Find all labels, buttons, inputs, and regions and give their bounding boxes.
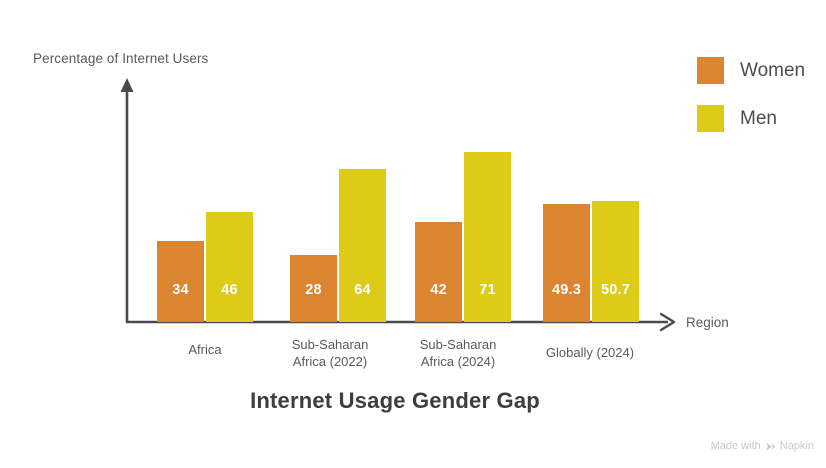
legend-label-women: Women (740, 60, 805, 82)
bar-value-label: 71 (464, 282, 511, 298)
x-tick-label-subsaharan-2024: Sub-Saharan Africa (2024) (408, 336, 508, 370)
bar-africa-women: 34 (157, 241, 204, 322)
legend-label-men: Men (740, 108, 777, 130)
y-axis-label: Percentage of Internet Users (33, 51, 208, 66)
bar-value-label: 46 (206, 282, 253, 298)
bar-subsaharan-2022-women: 28 (290, 255, 337, 322)
napkin-watermark: Made with Napkin (711, 440, 814, 452)
x-tick-label-globally-2024: Globally (2024) (538, 344, 642, 361)
bar-subsaharan-2022-men: 64 (339, 169, 386, 322)
x-tick-line: Africa (2024) (408, 353, 508, 370)
bar-value-label: 50.7 (592, 282, 639, 298)
chart-legend: Women Men (697, 57, 805, 153)
chart-title: Internet Usage Gender Gap (0, 388, 790, 414)
plot-area: 34 46 28 64 42 71 49.3 50.7 (126, 80, 676, 322)
legend-swatch-men (697, 105, 724, 132)
bar-globally-2024-men: 50.7 (592, 201, 639, 322)
legend-swatch-women (697, 57, 724, 84)
bar-globally-2024-women: 49.3 (543, 204, 590, 322)
x-tick-line: Africa (2022) (280, 353, 380, 370)
bar-chart: Percentage of Internet Users 34 46 28 64… (0, 0, 826, 468)
bar-value-label: 34 (157, 282, 204, 298)
bar-value-label: 42 (415, 282, 462, 298)
legend-item-men[interactable]: Men (697, 105, 805, 132)
watermark-brand: Napkin (780, 440, 814, 452)
x-tick-label-subsaharan-2022: Sub-Saharan Africa (2022) (280, 336, 380, 370)
bar-value-label: 49.3 (543, 282, 590, 298)
bar-subsaharan-2024-women: 42 (415, 222, 462, 322)
bar-subsaharan-2024-men: 71 (464, 152, 511, 322)
x-axis-label: Region (686, 315, 729, 330)
x-tick-label-africa: Africa (155, 341, 255, 358)
x-tick-line: Globally (2024) (538, 344, 642, 361)
legend-item-women[interactable]: Women (697, 57, 805, 84)
bar-value-label: 64 (339, 282, 386, 298)
x-tick-line: Africa (155, 341, 255, 358)
watermark-prefix: Made with (711, 440, 761, 452)
x-tick-line: Sub-Saharan (280, 336, 380, 353)
napkin-logo-icon (765, 441, 776, 452)
bar-africa-men: 46 (206, 212, 253, 322)
x-tick-line: Sub-Saharan (408, 336, 508, 353)
bar-value-label: 28 (290, 282, 337, 298)
